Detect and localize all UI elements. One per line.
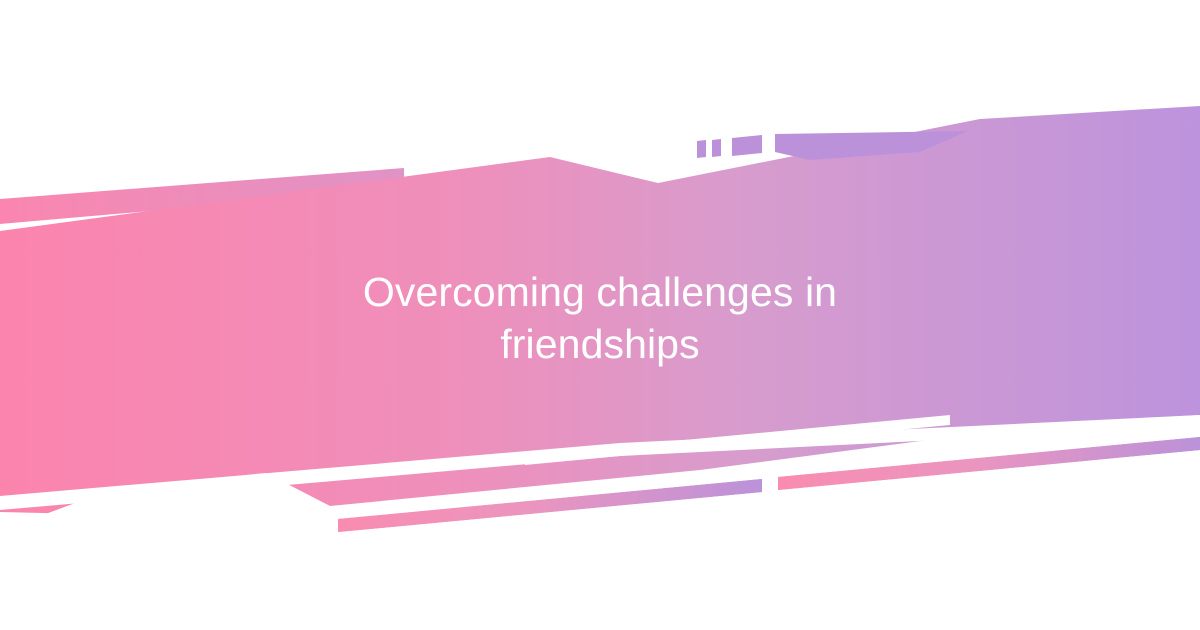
decorative-artwork [0, 0, 1200, 630]
dash-icon-3 [732, 135, 762, 156]
dash-icon-2 [712, 139, 721, 157]
banner-graphic: Overcoming challenges in friendships [0, 0, 1200, 630]
dash-icon-1 [697, 140, 706, 158]
